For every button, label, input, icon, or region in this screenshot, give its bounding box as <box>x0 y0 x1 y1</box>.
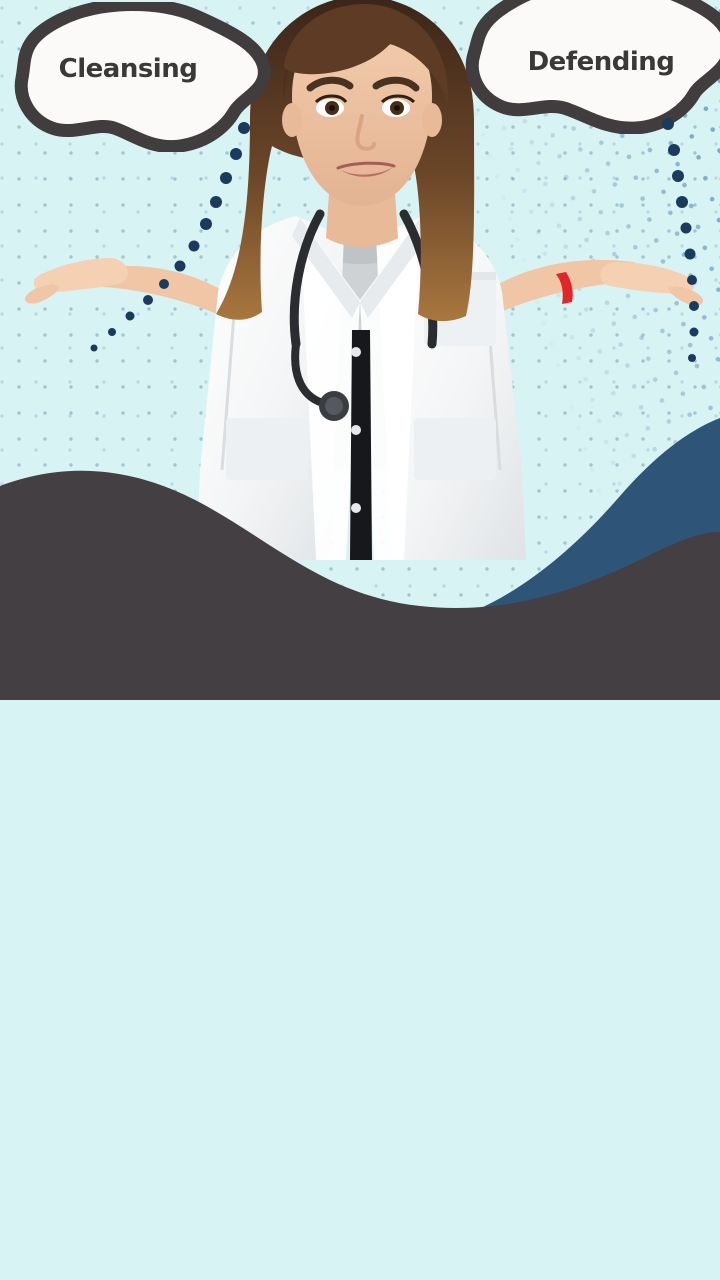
body-line: mengandung bahan alami dan <box>40 894 680 940</box>
body-line: CBAD, kamu akan lebih mudah <box>40 758 680 804</box>
title-part-question: ? <box>625 630 649 679</box>
title-part-cbad: CBAD <box>494 630 624 679</box>
poster-canvas: Cleansing Defending Apa Manfaat dari CBA… <box>0 0 720 1280</box>
panel-content: Apa Manfaat dari CBAD? Dengan memahami k… <box>0 520 720 1122</box>
title-part-dari: dari <box>386 630 494 679</box>
page-title: Apa Manfaat dari CBAD? <box>0 632 720 678</box>
body-line: samping. <box>40 1076 680 1122</box>
speech-bubble-defending[interactable]: Defending <box>452 0 720 134</box>
body-line: inovatif dari K-LINK yang <box>40 849 680 895</box>
content-panel: Apa Manfaat dari CBAD? Dengan memahami k… <box>0 520 720 1280</box>
body-line: secara keseluruhan, tanpa efek <box>40 1031 680 1077</box>
bubble-label-cleansing: Cleansing <box>59 54 198 84</box>
body-line: Dengan memahami konsep <box>40 712 680 758</box>
body-line: menjaga kesehatan tubuh <box>40 985 680 1031</box>
title-part-apa: Apa <box>71 630 177 679</box>
body-line: dalam memilih produk-produk <box>40 803 680 849</box>
dot-tail-right <box>548 118 720 388</box>
title-part-manfaat: Manfaat <box>177 630 387 679</box>
body-line: berkualitas tinggi dalam <box>40 940 680 986</box>
bubble-label-defending: Defending <box>528 47 675 77</box>
body-paragraph: Dengan memahami konsep CBAD, kamu akan l… <box>40 712 680 1122</box>
dot-tail-left <box>60 120 280 380</box>
